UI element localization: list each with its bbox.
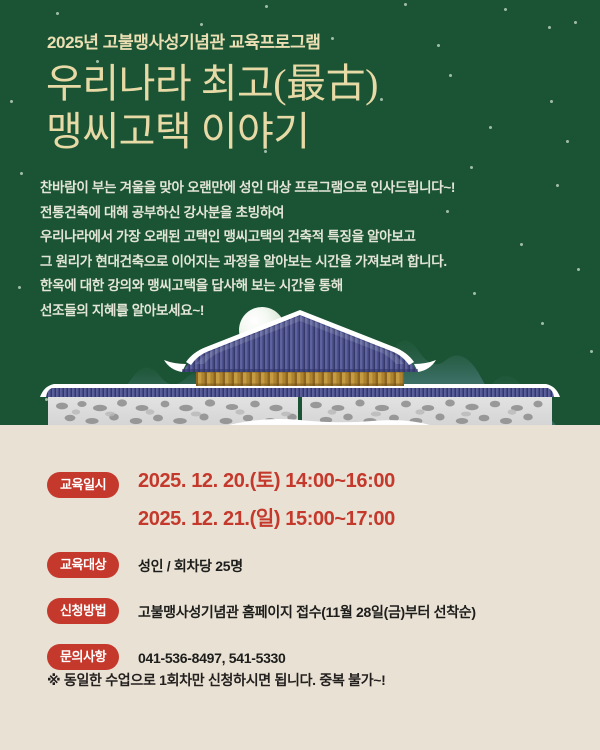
snow-speck: [577, 268, 580, 271]
poster-title-line-2: 맹씨고택 이야기: [46, 108, 378, 156]
info-section: 교육일시 2025. 12. 20.(토) 14:00~16:00 2025. …: [0, 468, 600, 674]
badge-cell-apply: 신청방법: [0, 598, 138, 624]
description-line: 한옥에 대한 강의와 맹씨고택을 답사해 보는 시간을 통해: [40, 274, 455, 299]
badge-cell-contact: 문의사항: [0, 644, 138, 670]
snow-speck: [20, 172, 23, 175]
apply-value: 고불맹사성기념관 홈페이지 접수(11월 28일(금)부터 선착순): [138, 598, 600, 622]
badge-target: 교육대상: [47, 552, 119, 578]
snow-speck: [449, 74, 452, 77]
snow-speck: [566, 140, 569, 143]
snow-speck: [331, 37, 334, 40]
info-row-date: 교육일시 2025. 12. 20.(토) 14:00~16:00 2025. …: [0, 468, 600, 532]
snow-speck: [437, 44, 440, 47]
snow-speck: [265, 5, 268, 8]
poster-title-line-1: 우리나라 최고(最古): [46, 60, 378, 108]
snow-speck: [574, 21, 577, 24]
poster-notice: ※ 동일한 수업으로 1회차만 신청하시면 됩니다. 중복 불가~!: [47, 670, 386, 690]
snow-speck: [489, 126, 492, 129]
green-background-panel: 2025년 고불맹사성기념관 교육프로그램 우리나라 최고(最古) 맹씨고택 이…: [0, 0, 600, 425]
snow-speck: [556, 184, 559, 187]
target-value: 성인 / 회차당 25명: [138, 552, 600, 576]
info-row-apply: 신청방법 고불맹사성기념관 홈페이지 접수(11월 28일(금)부터 선착순): [0, 598, 600, 628]
poster-title: 우리나라 최고(最古) 맹씨고택 이야기: [46, 60, 378, 156]
contact-value: 041-536-8497, 541-5330: [138, 644, 600, 668]
snow-speck: [470, 166, 473, 169]
description-line: 그 원리가 현대건축으로 이어지는 과정을 알아보는 시간을 가져보려 합니다.: [40, 250, 455, 275]
date-value-line-1: 2025. 12. 20.(토) 14:00~16:00: [138, 468, 395, 494]
poster-description: 찬바람이 부는 겨울을 맞아 오랜만에 성인 대상 프로그램으로 인사드립니다~…: [40, 176, 455, 323]
badge-cell-date: 교육일시: [0, 468, 138, 498]
badge-cell-target: 교육대상: [0, 552, 138, 578]
description-line: 선조들의 지혜를 알아보세요~!: [40, 299, 455, 324]
snow-speck: [380, 98, 383, 101]
info-row-target: 교육대상 성인 / 회차당 25명: [0, 552, 600, 582]
poster-root: 2025년 고불맹사성기념관 교육프로그램 우리나라 최고(最古) 맹씨고택 이…: [0, 0, 600, 750]
snow-speck: [18, 286, 21, 289]
snow-speck: [520, 243, 523, 246]
snow-speck: [10, 100, 13, 103]
date-values: 2025. 12. 20.(토) 14:00~16:00 2025. 12. 2…: [138, 468, 395, 532]
snow-speck: [56, 12, 59, 15]
badge-apply: 신청방법: [47, 598, 119, 624]
badge-contact: 문의사항: [47, 644, 119, 670]
description-line: 전통건축에 대해 공부하신 강사분을 초빙하여: [40, 201, 455, 226]
badge-date: 교육일시: [47, 472, 119, 498]
description-line: 찬바람이 부는 겨울을 맞아 오랜만에 성인 대상 프로그램으로 인사드립니다~…: [40, 176, 455, 201]
date-value-line-2: 2025. 12. 21.(일) 15:00~17:00: [138, 506, 395, 532]
snow-drift: [0, 395, 600, 425]
snow-speck: [200, 23, 203, 26]
poster-kicker: 2025년 고불맹사성기념관 교육프로그램: [47, 28, 320, 53]
snow-speck: [404, 3, 407, 6]
snow-speck: [504, 8, 507, 11]
snow-speck: [550, 100, 553, 103]
description-line: 우리나라에서 가장 오래된 고택인 맹씨고택의 건축적 특징을 알아보고: [40, 225, 455, 250]
snow-speck: [548, 26, 551, 29]
